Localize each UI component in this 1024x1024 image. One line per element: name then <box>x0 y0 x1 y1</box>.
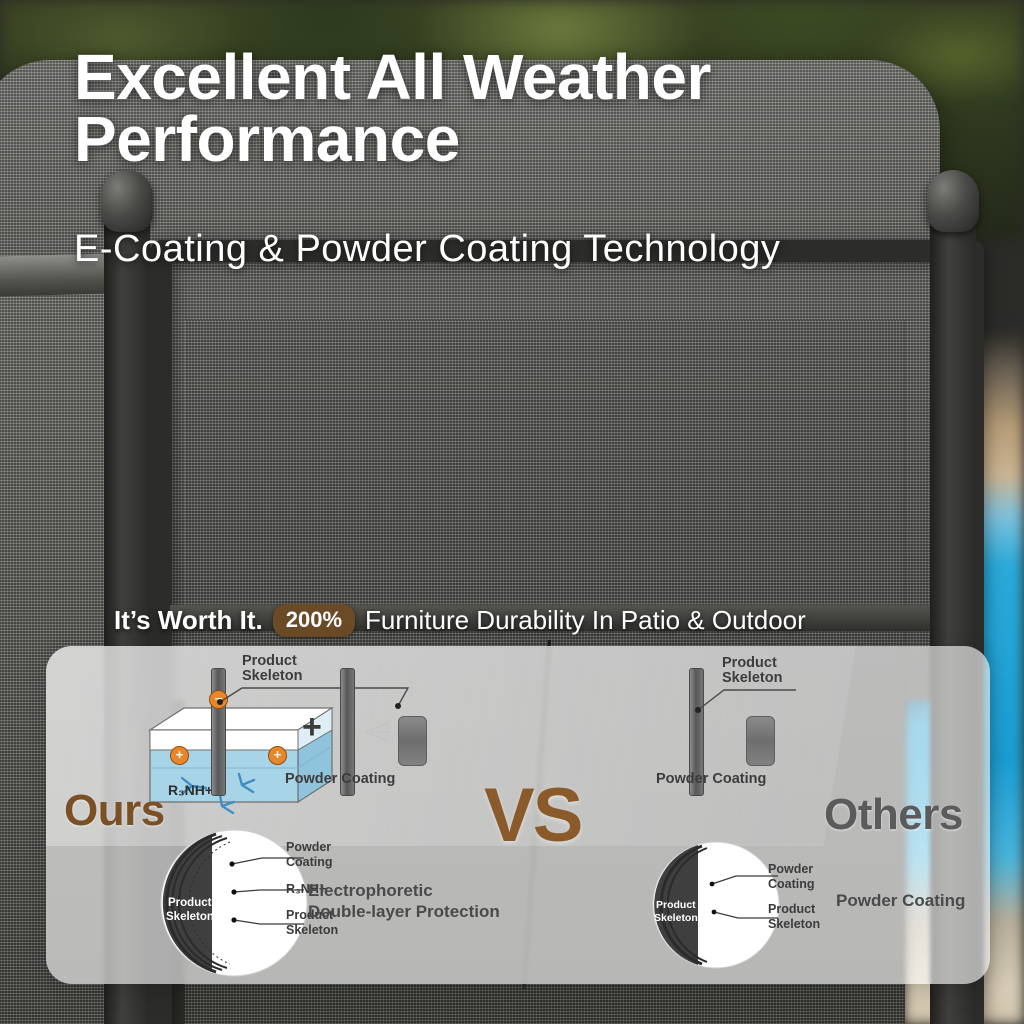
spray-gun-icon <box>398 716 427 766</box>
page-title: Excellent All Weather Performance <box>74 46 954 170</box>
layer-label-powder-coating-others: Powder Coating <box>768 862 815 892</box>
leader-line-others <box>690 684 800 718</box>
core-label-line-2-ours: Skeleton <box>166 911 214 923</box>
spray-cone-icon-others <box>712 718 748 748</box>
layer-label-powder-coating-ours: Powder Coating <box>286 840 333 870</box>
electrolyte-label: R₃NH+ <box>168 782 213 798</box>
layer-powder-line-2: Coating <box>286 855 333 870</box>
page-subtitle: E-Coating & Powder Coating Technology <box>74 228 974 271</box>
caption-ours-line-2: Double-layer Protection <box>308 901 538 922</box>
value-banner: It’s Worth It. 200% Furniture Durability… <box>114 604 806 637</box>
banner-tail-text: Furniture Durability In Patio & Outdoor <box>365 605 806 636</box>
layer-powder-line-1-others: Powder <box>768 862 815 877</box>
layer-powder-line-1: Powder <box>286 840 333 855</box>
core-label-line-1-ours: Product <box>168 897 212 909</box>
spray-cone-icon <box>364 718 400 748</box>
layer-skeleton-line-1-others: Product <box>768 902 820 917</box>
product-skeleton-label-others: Product Skeleton <box>722 656 782 686</box>
product-skeleton-label-ours: Product Skeleton <box>242 654 302 684</box>
caption-ours-line-1: Electrophoretic <box>308 880 538 901</box>
cross-section-diagram-others: Product Skeleton <box>646 840 786 970</box>
skeleton-label-line-2: Skeleton <box>242 669 302 684</box>
spray-gun-icon-others <box>746 716 775 766</box>
skeleton-label-line-1: Product <box>242 654 302 669</box>
banner-lead-text: It’s Worth It. <box>114 605 263 636</box>
powder-coating-label-others: Powder Coating <box>656 772 766 787</box>
label-others: Others <box>824 790 963 840</box>
powder-coating-label-ours: Powder Coating <box>285 772 395 787</box>
layer-skeleton-line-2-others: Skeleton <box>768 917 820 932</box>
skeleton-label-line-1-others: Product <box>722 656 782 671</box>
label-ours: Ours <box>64 786 165 836</box>
caption-ours: Electrophoretic Double-layer Protection <box>308 880 538 922</box>
caption-others: Powder Coating <box>836 890 1024 911</box>
layer-powder-line-2-others: Coating <box>768 877 815 892</box>
headline-line-1: Excellent All Weather <box>74 46 954 108</box>
plus-sign: + <box>302 708 322 747</box>
layer-skeleton-line-2: Skeleton <box>286 923 338 938</box>
core-label-line-1-others: Product <box>656 899 696 911</box>
product-marketing-banner: Excellent All Weather Performance E-Coat… <box>0 0 1024 1024</box>
positive-charge-icon-right: + <box>268 746 287 765</box>
headline-line-2: Performance <box>74 108 954 170</box>
chair-finial-right <box>927 170 979 232</box>
positive-charge-icon-left: + <box>170 746 189 765</box>
caption-others-line-1: Powder Coating <box>836 890 1024 911</box>
status-badge: 200% <box>273 604 355 637</box>
layer-label-skeleton-others: Product Skeleton <box>768 902 820 932</box>
chair-finial-left <box>101 170 153 232</box>
core-label-line-2-others: Skeleton <box>654 912 698 924</box>
label-vs: VS <box>484 772 581 859</box>
